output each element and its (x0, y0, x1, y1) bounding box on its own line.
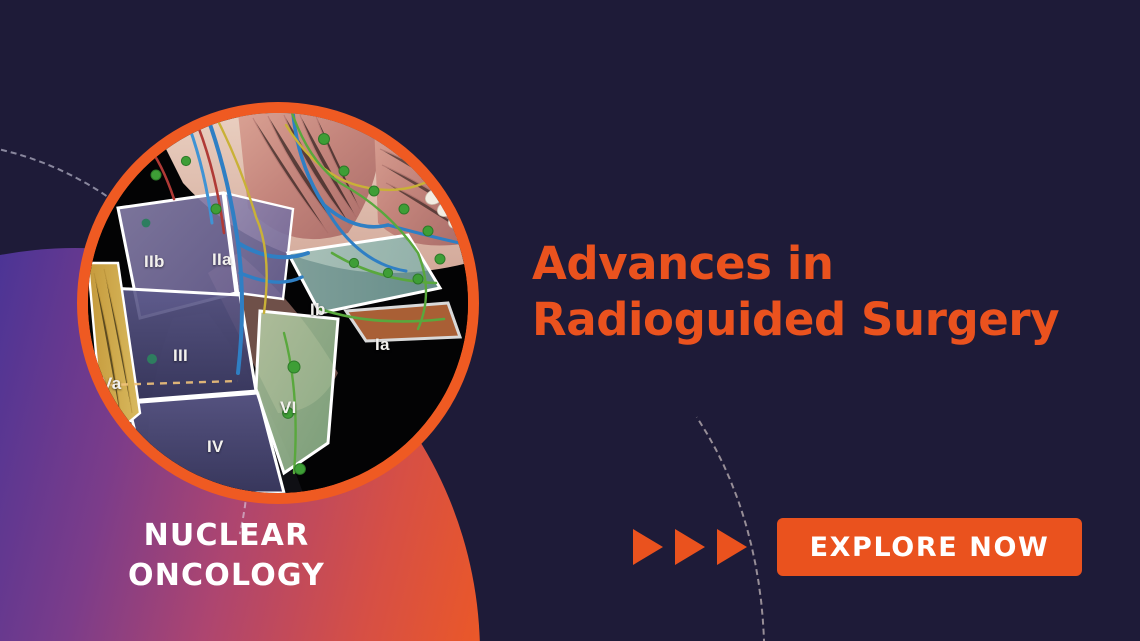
play-arrow-icon (717, 529, 747, 565)
headline-line-1: Advances in (532, 236, 1092, 292)
anatomy-image-clip: IIb IIa Ib Ia III IV Va VI (88, 113, 468, 493)
category-line-2: ONCOLOGY (84, 556, 369, 596)
arrow-group (633, 529, 747, 565)
promo-banner: IIb IIa Ib Ia III IV Va VI Advances in R… (0, 0, 1140, 641)
anatomy-circle: IIb IIa Ib Ia III IV Va VI (77, 102, 479, 504)
cta-row: EXPLORE NOW (633, 517, 1082, 577)
category-line-1: NUCLEAR (84, 516, 369, 556)
play-arrow-icon (675, 529, 705, 565)
headline-line-2: Radioguided Surgery (532, 292, 1092, 348)
category-label: NUCLEAR ONCOLOGY (84, 516, 369, 596)
neck-lymph-node-illustration (88, 113, 468, 493)
explore-now-button[interactable]: EXPLORE NOW (777, 518, 1082, 576)
play-arrow-icon (633, 529, 663, 565)
page-title: Advances in Radioguided Surgery (532, 236, 1092, 349)
